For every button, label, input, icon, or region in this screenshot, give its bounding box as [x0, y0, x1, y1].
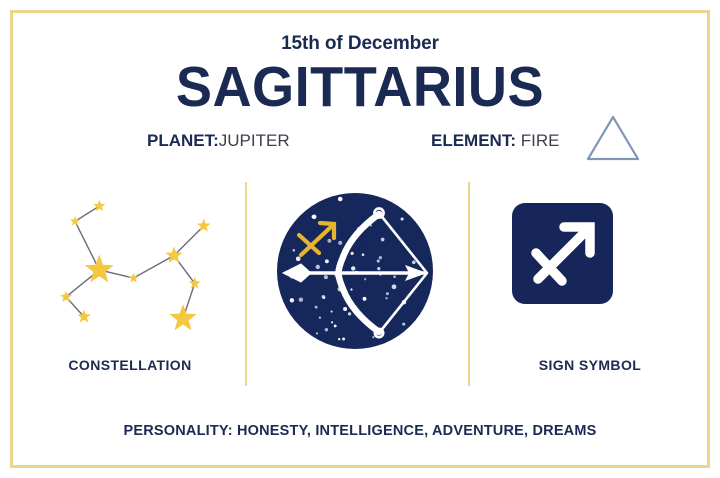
personality-line: PERSONALITY: HONESTY, INTELLIGENCE, ADVE…: [0, 423, 720, 439]
date-line: 15th of December: [0, 33, 720, 55]
element-label: ELEMENT:: [431, 131, 516, 150]
element-info: ELEMENT: FIRE: [431, 131, 559, 151]
panel-constellation: CONSTELLATION: [20, 185, 240, 385]
sign-symbol-box: [512, 203, 613, 304]
planet-info: PLANET:JUPITER: [147, 131, 290, 151]
zodiac-card: 15th of December SAGITTARIUS PLANET:JUPI…: [0, 0, 720, 478]
constellation-caption: CONSTELLATION: [20, 357, 240, 373]
panel-sign-symbol: SIGN SYMBOL: [475, 185, 705, 385]
fire-triangle-icon: [585, 113, 641, 163]
element-value: FIRE: [521, 131, 560, 150]
sagittarius-sign-symbol: [512, 203, 613, 304]
panel-emblem: [252, 185, 462, 385]
planet-value: JUPITER: [219, 131, 290, 150]
page-title: SAGITTARIUS: [18, 58, 702, 116]
planet-label: PLANET:: [147, 131, 219, 150]
sagittarius-archer-emblem: [275, 191, 435, 351]
constellation-icon: [48, 190, 228, 340]
sign-symbol-caption: SIGN SYMBOL: [475, 357, 705, 373]
divider-left: [245, 182, 247, 386]
divider-right: [468, 182, 470, 386]
